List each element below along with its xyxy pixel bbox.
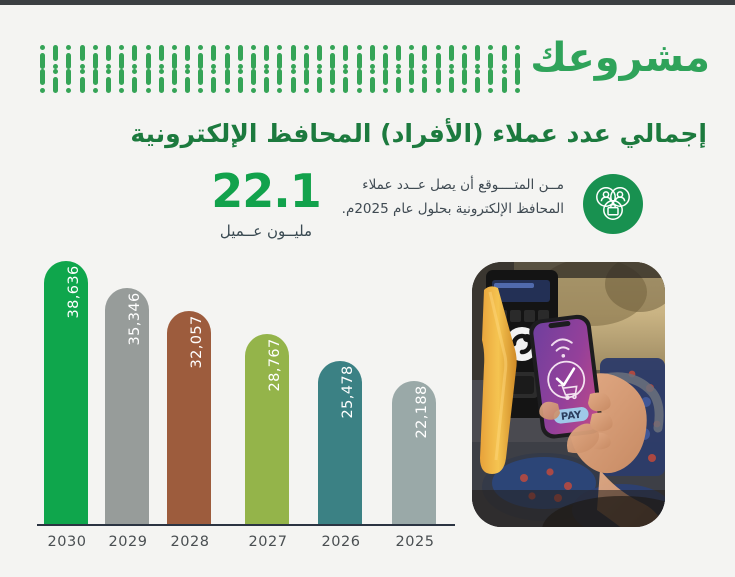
pattern-mark — [366, 45, 379, 69]
pattern-mark — [458, 69, 471, 93]
pattern-mark — [36, 69, 49, 93]
pattern-mark — [405, 69, 418, 93]
chart-baseline — [37, 524, 455, 526]
pattern-mark — [498, 45, 511, 69]
pattern-mark — [445, 69, 458, 93]
x-axis-label-2027: 2027 — [238, 534, 298, 550]
pattern-mark — [76, 69, 89, 93]
pattern-mark — [445, 45, 458, 69]
bar-value-label: 32,057,200 — [189, 311, 205, 369]
x-axis-label-2026: 2026 — [311, 534, 371, 550]
people-group-briefcase-icon — [583, 174, 643, 234]
pattern-mark — [76, 45, 89, 69]
pattern-mark — [418, 45, 431, 69]
pattern-mark — [353, 45, 366, 69]
pattern-mark — [511, 69, 524, 93]
pattern-mark — [62, 69, 75, 93]
pattern-mark — [247, 45, 260, 69]
header: مشروعك — [0, 5, 735, 110]
brand-logo[interactable]: مشروعك — [530, 38, 710, 78]
pattern-mark — [168, 69, 181, 93]
pattern-mark — [142, 69, 155, 93]
x-axis-label-2025: 2025 — [385, 534, 445, 550]
pattern-mark — [392, 45, 405, 69]
bar-value-label: 25,478,000 — [340, 361, 356, 419]
bar-value-label: 35,346,800 — [127, 288, 143, 346]
pattern-mark — [102, 45, 115, 69]
bar-2026[interactable]: 25,478,000 — [318, 361, 362, 524]
pattern-mark — [339, 69, 352, 93]
pattern-mark — [155, 45, 168, 69]
pattern-mark — [484, 45, 497, 69]
x-axis-label-2030: 2030 — [37, 534, 97, 550]
exclamation-dots-pattern — [36, 45, 526, 97]
pattern-mark — [313, 45, 326, 69]
stat-description: مــن المتــــوقع أن يصل عــدد عملاء المح… — [316, 174, 564, 221]
pattern-mark — [339, 45, 352, 69]
pattern-mark — [405, 45, 418, 69]
pattern-mark — [432, 45, 445, 69]
pattern-mark — [260, 45, 273, 69]
pattern-mark — [128, 45, 141, 69]
pattern-mark — [221, 69, 234, 93]
pattern-mark — [181, 69, 194, 93]
pattern-row — [36, 45, 526, 69]
pattern-mark — [300, 69, 313, 93]
pattern-mark — [234, 45, 247, 69]
pattern-mark — [207, 45, 220, 69]
pattern-mark — [115, 45, 128, 69]
pattern-mark — [49, 69, 62, 93]
pattern-mark — [273, 69, 286, 93]
pattern-mark — [366, 69, 379, 93]
pattern-mark — [89, 45, 102, 69]
pattern-mark — [326, 45, 339, 69]
bar-2027[interactable]: 28,767,600 — [245, 334, 289, 524]
pattern-mark — [194, 69, 207, 93]
bar-2028[interactable]: 32,057,200 — [167, 311, 211, 524]
pattern-mark — [181, 45, 194, 69]
pattern-mark — [313, 69, 326, 93]
bar-chart: 38,636,40035,346,80032,057,20028,767,600… — [0, 250, 460, 550]
pattern-mark — [128, 69, 141, 93]
x-axis-label-2029: 2029 — [98, 534, 158, 550]
pattern-row — [36, 69, 526, 93]
pattern-mark — [168, 45, 181, 69]
pattern-mark — [471, 69, 484, 93]
pattern-mark — [287, 45, 300, 69]
infographic-page: مشروعك إجمالي عدد عملاء (الأفراد) المحاف… — [0, 0, 735, 577]
x-axis-label-2028: 2028 — [160, 534, 220, 550]
pattern-mark — [49, 45, 62, 69]
pattern-mark — [155, 69, 168, 93]
bar-value-label: 38,636,400 — [66, 261, 82, 319]
pattern-mark — [484, 69, 497, 93]
pattern-mark — [142, 45, 155, 69]
pattern-mark — [207, 69, 220, 93]
pattern-mark — [326, 69, 339, 93]
bar-2029[interactable]: 35,346,800 — [105, 288, 149, 524]
pattern-mark — [471, 45, 484, 69]
pattern-mark — [221, 45, 234, 69]
pattern-mark — [62, 45, 75, 69]
pattern-mark — [300, 45, 313, 69]
pattern-mark — [353, 69, 366, 93]
pattern-mark — [89, 69, 102, 93]
pattern-mark — [287, 69, 300, 93]
bar-2030[interactable]: 38,636,400 — [44, 261, 88, 524]
bar-value-label: 22,188,400 — [414, 381, 430, 439]
pattern-mark — [36, 45, 49, 69]
page-title: إجمالي عدد عملاء (الأفراد) المحافظ الإلك… — [27, 118, 707, 149]
pattern-mark — [392, 69, 405, 93]
pattern-mark — [273, 45, 286, 69]
pattern-mark — [418, 69, 431, 93]
bar-2025[interactable]: 22,188,400 — [392, 381, 436, 524]
pattern-mark — [260, 69, 273, 93]
mobile-contactless-payment-photo: PAY — [472, 262, 665, 527]
pattern-mark — [379, 45, 392, 69]
pattern-mark — [247, 69, 260, 93]
pattern-mark — [511, 45, 524, 69]
pattern-mark — [432, 69, 445, 93]
pattern-mark — [234, 69, 247, 93]
pattern-mark — [115, 69, 128, 93]
pattern-mark — [458, 45, 471, 69]
headline-stat-unit: مليــون عــميل — [176, 222, 356, 240]
pattern-mark — [194, 45, 207, 69]
pattern-mark — [498, 69, 511, 93]
pattern-mark — [379, 69, 392, 93]
pattern-mark — [102, 69, 115, 93]
bar-value-label: 28,767,600 — [267, 334, 283, 392]
